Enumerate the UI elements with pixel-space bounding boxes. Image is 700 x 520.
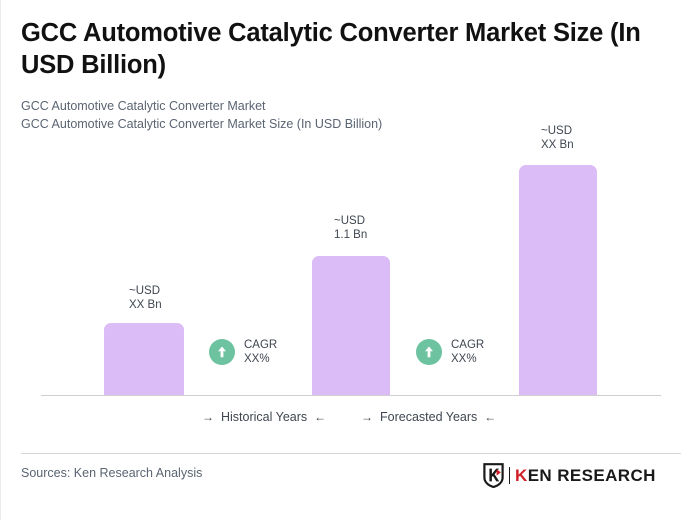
bar-base-year[interactable]: [312, 256, 390, 396]
bar-value-label-3-line2: XX Bn: [541, 138, 574, 152]
chart-card: GCC Automotive Catalytic Converter Marke…: [0, 0, 700, 520]
arrow-left-icon: ←: [484, 411, 496, 423]
cagr-label-1: CAGR XX%: [244, 338, 277, 366]
bar-value-label-3: ~USD XX Bn: [541, 124, 574, 152]
year-range-historical: → Historical Years ←: [202, 410, 326, 424]
arrow-right-icon: →: [361, 411, 373, 423]
bar-historical-year[interactable]: [104, 323, 184, 396]
bar-value-label-2: ~USD 1.1 Bn: [334, 214, 367, 242]
cagr-label-2-line2: XX%: [451, 352, 484, 366]
arrow-right-icon: →: [202, 411, 214, 423]
sources-text: Sources: Ken Research Analysis: [21, 466, 202, 480]
shield-logo-icon: [483, 463, 504, 488]
ken-research-logo: KEN RESEARCH: [483, 463, 656, 488]
logo-accent-letter: K: [515, 466, 528, 485]
year-range-historical-label: Historical Years: [221, 410, 307, 424]
x-axis-baseline: [41, 395, 661, 396]
bar-value-label-1-line2: XX Bn: [129, 298, 162, 312]
cagr-label-1-line2: XX%: [244, 352, 277, 366]
chart-plot-area: ~USD XX Bn CAGR XX% ~USD 1.1 Bn: [1, 0, 700, 400]
footer-divider: [21, 453, 681, 454]
year-range-forecasted-label: Forecasted Years: [380, 410, 477, 424]
year-range-forecasted: → Forecasted Years ←: [361, 410, 496, 424]
logo-separator: [509, 467, 510, 484]
bar-value-label-1: ~USD XX Bn: [129, 284, 162, 312]
logo-wordmark: KEN RESEARCH: [515, 467, 656, 484]
cagr-marker-1: CAGR XX%: [209, 338, 277, 366]
cagr-label-2-line1: CAGR: [451, 338, 484, 352]
arrow-up-icon: [209, 339, 235, 365]
bar-value-label-2-line2: 1.1 Bn: [334, 228, 367, 242]
bar-value-label-2-line1: ~USD: [334, 214, 367, 228]
cagr-label-1-line1: CAGR: [244, 338, 277, 352]
bar-value-label-1-line1: ~USD: [129, 284, 162, 298]
arrow-up-icon: [416, 339, 442, 365]
year-range-row: → Historical Years ← → Forecasted Years …: [1, 410, 700, 430]
logo-rest-text: EN RESEARCH: [528, 466, 656, 485]
bar-forecast-year[interactable]: [519, 165, 597, 396]
cagr-label-2: CAGR XX%: [451, 338, 484, 366]
arrow-left-icon: ←: [314, 411, 326, 423]
bar-value-label-3-line1: ~USD: [541, 124, 574, 138]
cagr-marker-2: CAGR XX%: [416, 338, 484, 366]
